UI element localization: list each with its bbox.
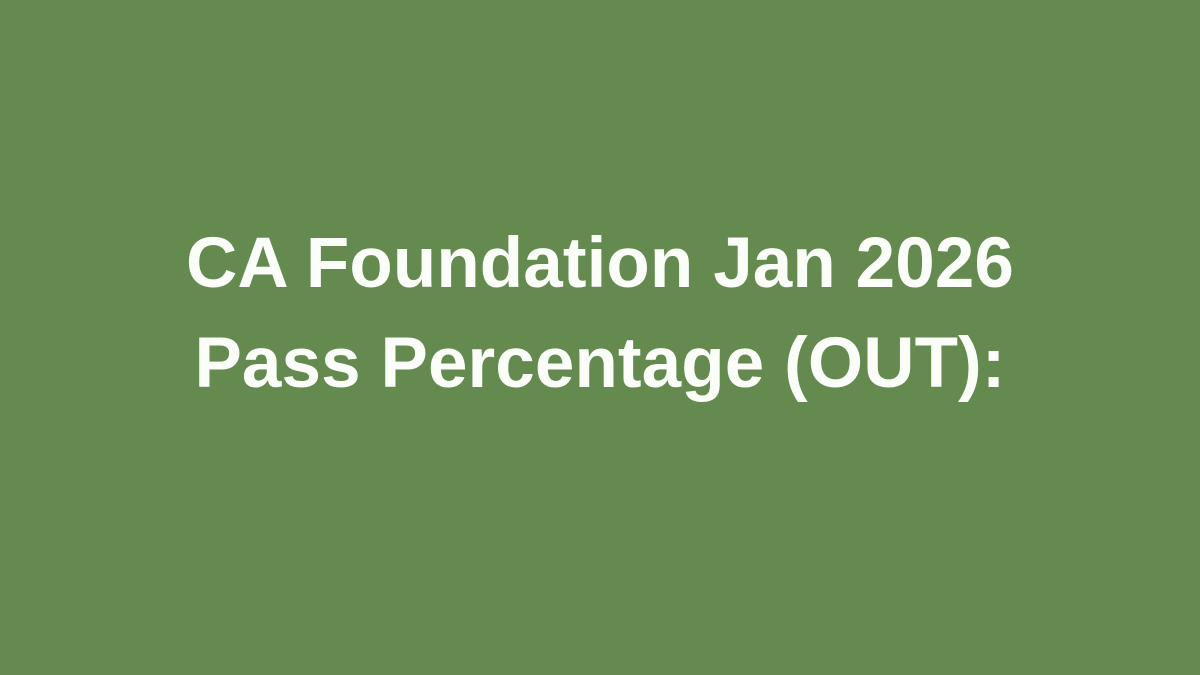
banner-card: CA Foundation Jan 2026 Pass Percentage (… (0, 0, 1200, 675)
headline-block: CA Foundation Jan 2026 Pass Percentage (… (0, 214, 1200, 414)
page-title-line-2: Pass Percentage (OUT): (90, 314, 1110, 414)
page-title-line-1: CA Foundation Jan 2026 (90, 214, 1110, 314)
page-title: CA Foundation Jan 2026 Pass Percentage (… (90, 214, 1110, 414)
